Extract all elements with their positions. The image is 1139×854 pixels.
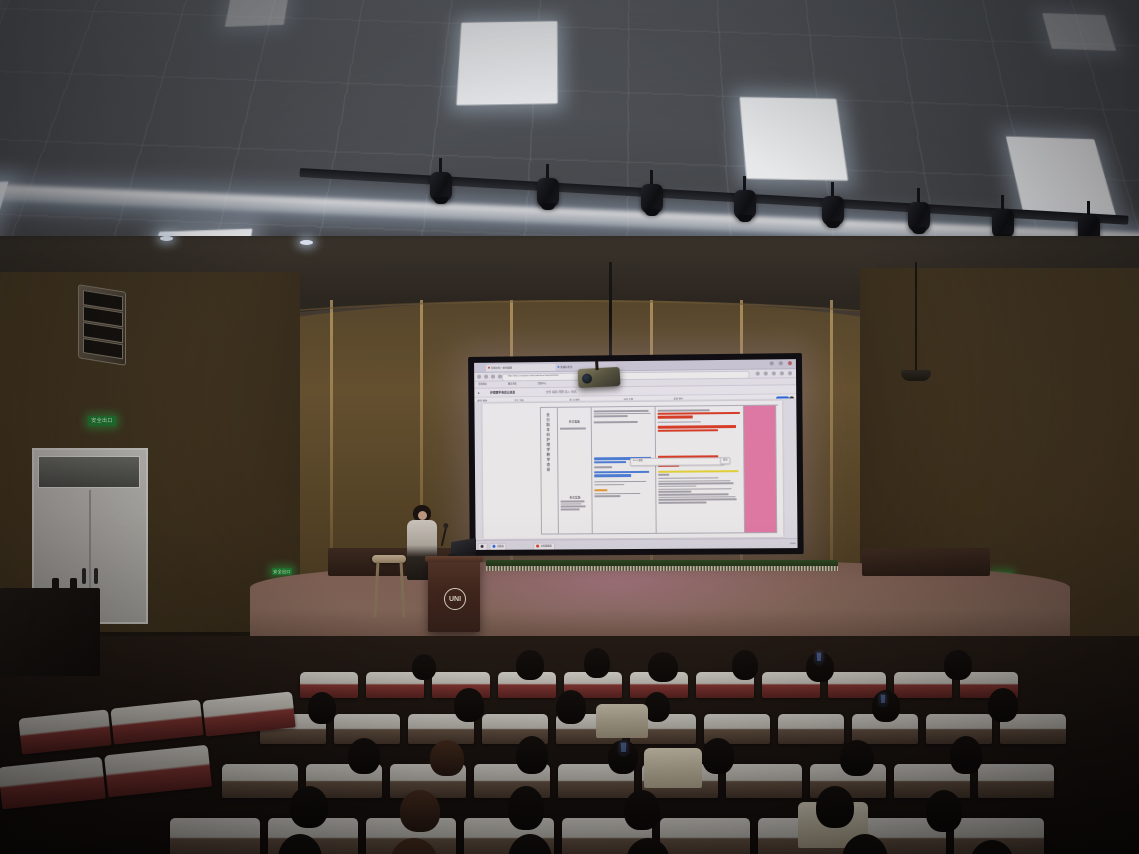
- seat: [170, 818, 260, 854]
- profile-icon[interactable]: [780, 371, 784, 375]
- highlight-red: [657, 429, 718, 432]
- highlight-orange: [594, 489, 607, 491]
- stage-planter-hedge: [486, 560, 838, 571]
- audience-head: [430, 740, 464, 776]
- taskbar-start-button[interactable]: [478, 542, 488, 549]
- vertical-title: 全日制本科护理学教学查房: [546, 413, 551, 473]
- ceiling-light-panel: [225, 0, 289, 27]
- table-col-labels: 查房准备 查房实施 总结评价: [558, 407, 593, 534]
- selected-column-fill: [744, 406, 776, 533]
- back-icon[interactable]: [477, 375, 481, 379]
- taskbar-item-label: 浏览器: [497, 545, 504, 547]
- audience-head: [840, 740, 874, 776]
- bookmark-item[interactable]: 常用网站: [478, 382, 487, 388]
- side-table-right: [862, 548, 990, 576]
- raised-phone: [816, 652, 822, 663]
- av-equipment-rack: [0, 588, 100, 676]
- taskbar-item-label: 文档编辑器: [541, 545, 552, 547]
- audience-head: [290, 786, 328, 828]
- browser-icon: [492, 544, 495, 547]
- close-icon[interactable]: [788, 361, 792, 365]
- ceiling-light-panel: [456, 21, 557, 105]
- menu-bar[interactable]: 文件 编辑 视图 插入 格式: [546, 388, 577, 396]
- reload-icon[interactable]: [491, 375, 495, 379]
- empty-seat: [104, 745, 212, 798]
- browser-tab-active[interactable]: 在线文档 - 协同编辑: [486, 363, 557, 371]
- rack-knob: [52, 578, 59, 590]
- podium: UNI: [428, 560, 480, 632]
- wall-speaker-array: [78, 284, 126, 366]
- projection-screen: 在线文档 - 协同编辑 新建标签页 https://docs.example.c…: [468, 353, 804, 556]
- ceiling-light-panel: [1042, 13, 1116, 51]
- start-icon: [481, 544, 484, 547]
- seat: [726, 764, 802, 798]
- audience-head: [556, 690, 586, 724]
- pendant-shade: [901, 370, 931, 381]
- audience-head: [624, 790, 660, 830]
- highlight-red: [657, 416, 692, 419]
- table-col-content[interactable]: [592, 407, 657, 534]
- projector-lens-icon: [582, 373, 593, 384]
- doc-editor-icon: [536, 544, 539, 547]
- door-handle[interactable]: [82, 568, 86, 584]
- ceiling-light-panel: [740, 97, 849, 181]
- format-tools-label: B I U 颜色: [633, 460, 643, 462]
- floating-format-toolbar[interactable]: B I U 颜色: [630, 457, 724, 466]
- audience-head: [872, 690, 900, 722]
- bar-stool: [372, 555, 406, 617]
- audience-head: [648, 652, 678, 682]
- browser-menu-icon[interactable]: [788, 371, 792, 375]
- exit-sign: 安全出口: [88, 416, 116, 426]
- door-window: [38, 456, 140, 488]
- door-handle[interactable]: [94, 568, 98, 584]
- audience-head: [816, 786, 854, 828]
- raised-phone: [620, 742, 627, 754]
- pendant-light: [915, 262, 917, 372]
- tab-label: 新建标签页: [560, 365, 572, 368]
- taskbar-item-editor[interactable]: 文档编辑器: [533, 542, 554, 550]
- comment-chip-label: 批注: [723, 459, 727, 461]
- document-title: 护理教学查房记录表: [490, 388, 515, 396]
- taskbar-clock: 14:26: [790, 541, 796, 547]
- app-logo-icon: ▲: [477, 389, 480, 397]
- empty-seat: [18, 709, 111, 754]
- raised-phone: [880, 694, 886, 705]
- extensions-icon[interactable]: [764, 371, 768, 375]
- projector-arm: [595, 361, 598, 370]
- audience-head: [400, 790, 440, 832]
- stage-spotlight: [908, 202, 930, 236]
- stage-spotlight: [641, 184, 663, 218]
- seat: [778, 714, 844, 744]
- bookmark-star-icon[interactable]: [756, 372, 760, 376]
- tab-label: 在线文档 - 协同编辑: [491, 366, 512, 369]
- os-taskbar: 浏览器 文档编辑器 14:26: [476, 538, 798, 550]
- stage-spotlight: [822, 196, 844, 230]
- row-label: 查房实施: [560, 495, 590, 499]
- recessed-downlight: [160, 236, 173, 241]
- audience-head: [508, 786, 544, 830]
- stage-spotlight: [734, 190, 756, 224]
- presenter-face: [418, 511, 427, 520]
- highlight-blue: [594, 471, 649, 474]
- projected-desktop: 在线文档 - 协同编辑 新建标签页 https://docs.example.c…: [474, 359, 798, 550]
- row-label: 查房准备: [559, 419, 589, 423]
- audience-head: [988, 688, 1018, 722]
- audience-head: [348, 738, 380, 774]
- maximize-icon[interactable]: [779, 361, 783, 365]
- favicon-icon: [557, 366, 560, 369]
- audience-head: [944, 650, 972, 680]
- forward-icon[interactable]: [484, 375, 488, 379]
- download-icon[interactable]: [772, 371, 776, 375]
- highlight-blue: [594, 461, 626, 464]
- podium-top: [425, 556, 483, 562]
- seat: [978, 764, 1054, 798]
- seat: [222, 764, 298, 798]
- exit-sign: 安全出口: [272, 568, 292, 575]
- stage-spotlight: [430, 172, 452, 206]
- recessed-downlight: [300, 240, 313, 245]
- audience-coat: [644, 748, 702, 788]
- audience-head: [516, 650, 544, 680]
- highlight-yellow: [658, 470, 739, 473]
- podium-emblem: UNI: [444, 588, 466, 610]
- comment-chip[interactable]: 批注: [720, 457, 730, 464]
- seat: [894, 672, 952, 698]
- audience-head: [412, 654, 436, 680]
- table-col-title: 全日制本科护理学教学查房: [541, 408, 559, 535]
- audience-head: [584, 648, 610, 678]
- rack-knob: [70, 578, 77, 590]
- document-table: 全日制本科护理学教学查房 查房准备 查房实施: [540, 405, 779, 535]
- table-col-selected[interactable]: [744, 406, 777, 534]
- audience-head: [516, 736, 548, 774]
- auditorium-photo: 安全出口 安全出口 安全出口 在线文档 - 协同编辑 新建标签页: [0, 0, 1139, 854]
- bookmark-item[interactable]: 资源中心: [538, 381, 547, 387]
- table-col-criteria[interactable]: [656, 406, 745, 534]
- audience-head: [732, 650, 758, 680]
- audience-head: [926, 790, 962, 832]
- document-canvas[interactable]: 全日制本科护理学教学查房 查房准备 查房实施: [474, 398, 797, 541]
- ceiling-projector: [578, 367, 621, 388]
- taskbar-item-browser[interactable]: 浏览器: [489, 542, 506, 550]
- audience-coat: [596, 704, 648, 738]
- stage-spotlight: [537, 178, 559, 212]
- audience-head: [308, 692, 336, 724]
- audience-head: [454, 688, 484, 722]
- minimize-icon[interactable]: [770, 361, 774, 365]
- favicon-icon: [487, 367, 490, 370]
- bookmark-item[interactable]: 教务系统: [508, 381, 517, 387]
- seat: [660, 818, 750, 854]
- empty-seat: [110, 699, 203, 744]
- highlight-blue: [594, 474, 631, 477]
- highlight-red: [657, 425, 736, 428]
- audience-head: [702, 738, 734, 774]
- document-page: 全日制本科护理学教学查房 查房准备 查房实施: [482, 400, 783, 538]
- audience-head: [950, 736, 982, 774]
- empty-seat: [0, 757, 106, 810]
- auditorium-seating: [0, 636, 1139, 854]
- highlight-red: [657, 412, 740, 415]
